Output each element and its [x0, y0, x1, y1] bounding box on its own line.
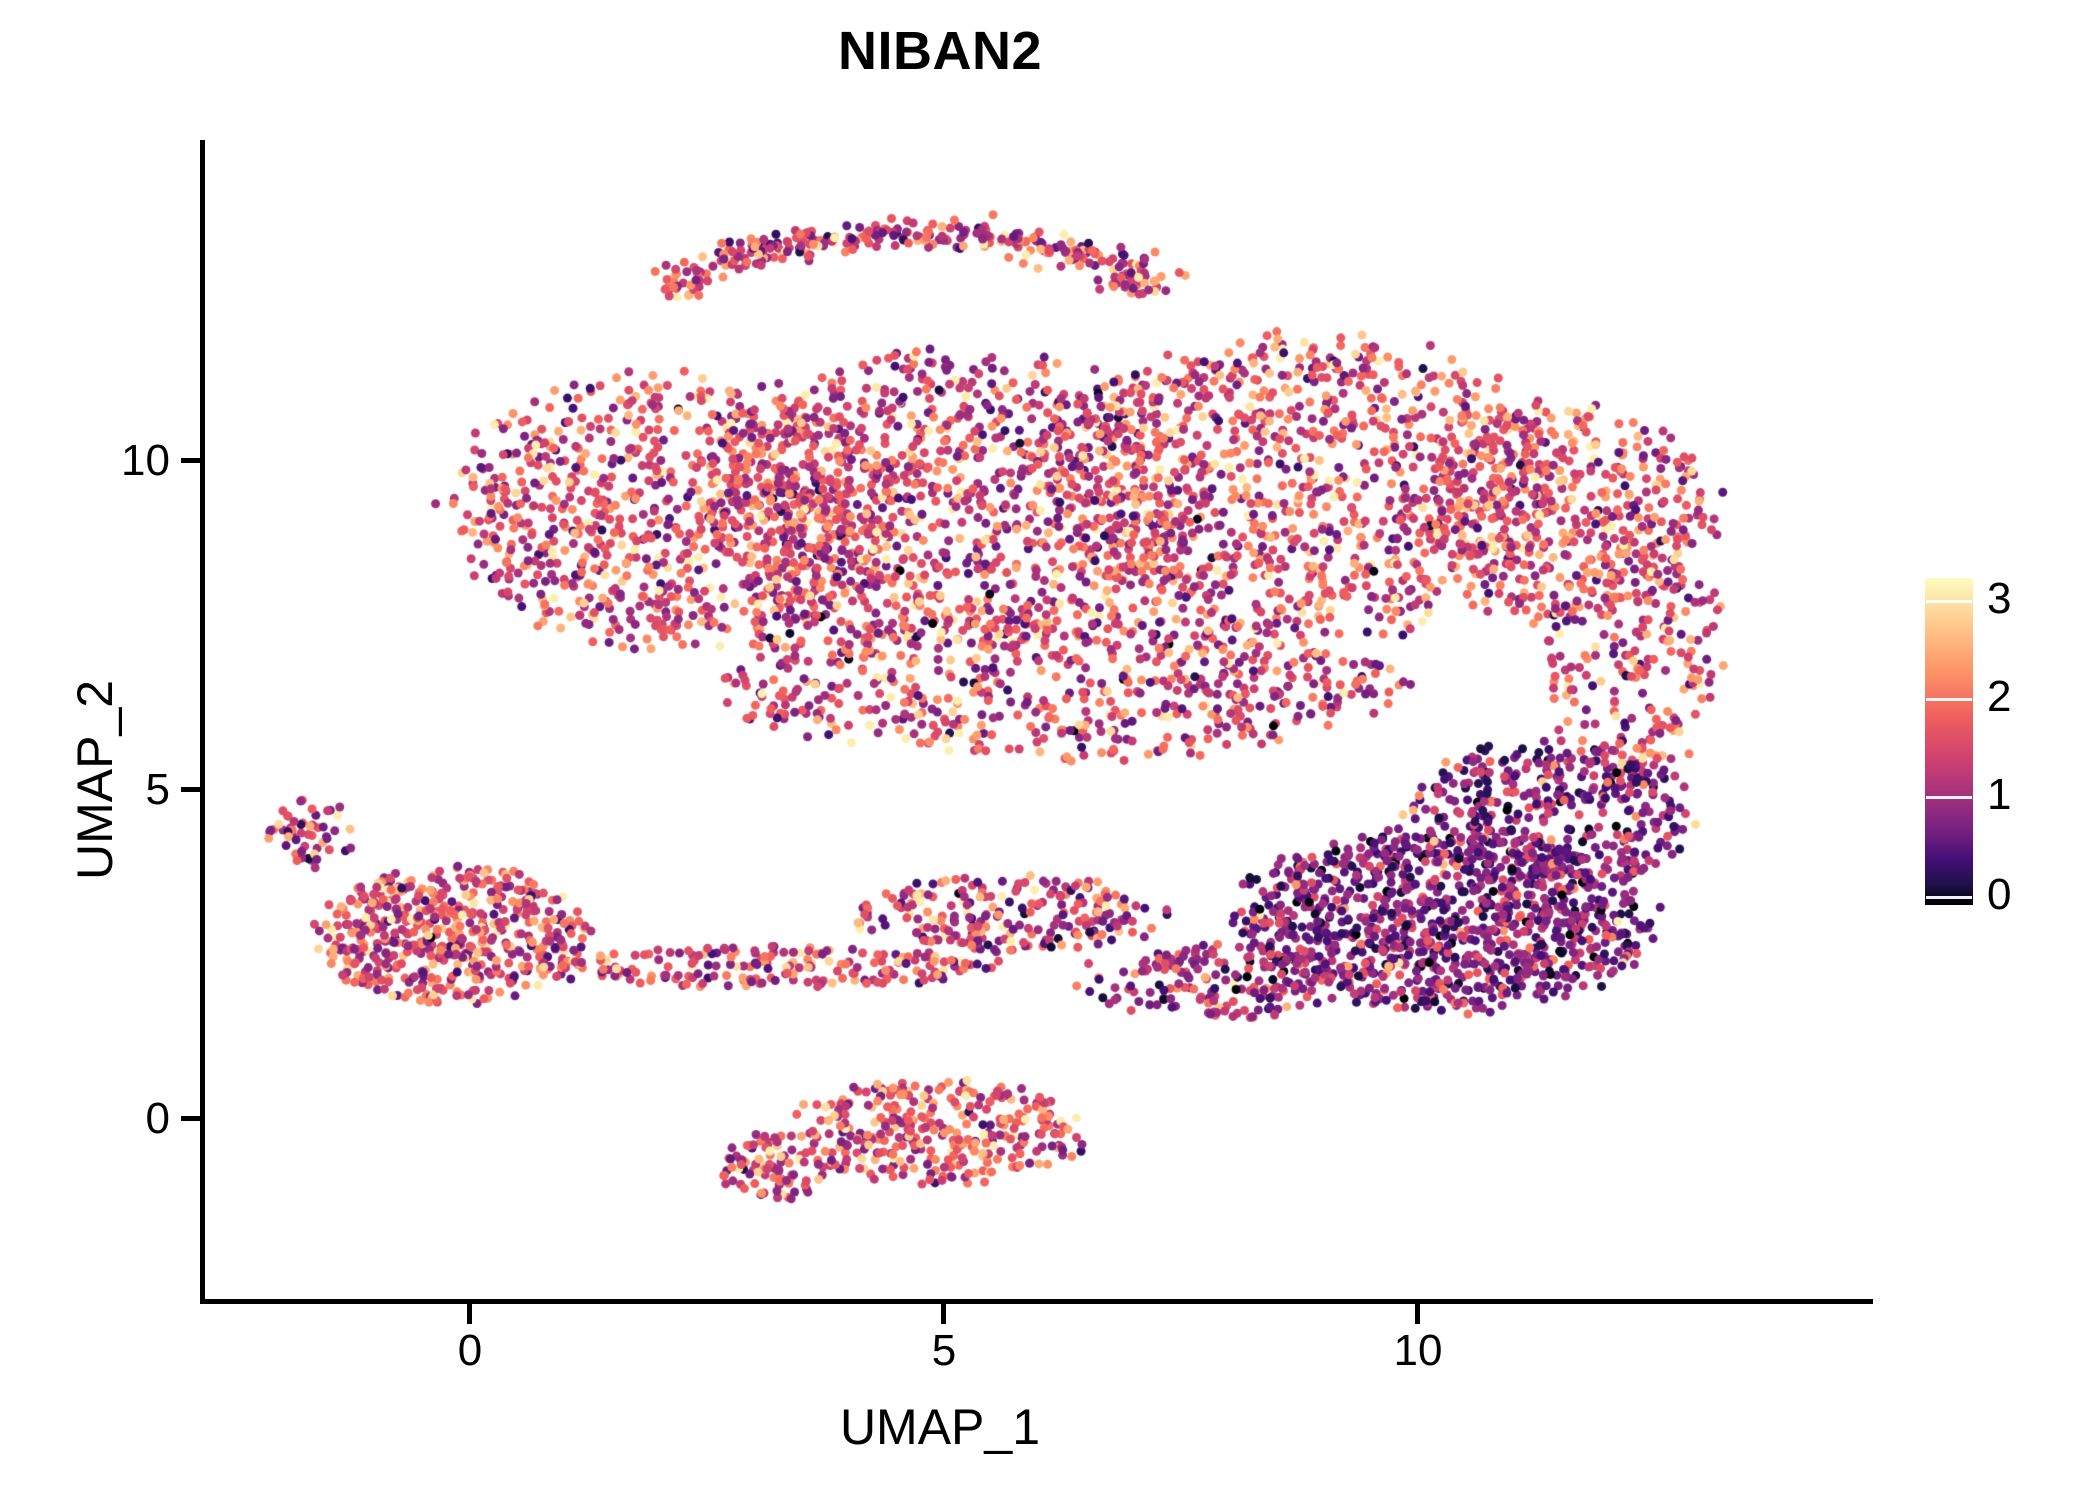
legend-label-0: 0 — [1987, 873, 2011, 917]
legend-tick-3 — [1926, 600, 1972, 603]
y-tick-label-0: 0 — [80, 1094, 170, 1144]
plot-figure: NIBAN2 10 5 0 0 5 10 UMAP_2 UMAP_1 3 2 1… — [0, 0, 2100, 1500]
color-legend-gradient-bar — [1925, 578, 1973, 905]
legend-tick-2 — [1926, 698, 1972, 701]
y-tick-mark-0 — [181, 1116, 201, 1121]
y-tick-label-10: 10 — [80, 436, 170, 486]
x-tick-mark-0 — [467, 1304, 472, 1324]
scatter-points-canvas[interactable] — [205, 140, 1873, 1302]
x-tick-label-10: 10 — [1348, 1326, 1488, 1376]
legend-label-1: 1 — [1987, 773, 2011, 817]
scatter-plot-panel[interactable] — [205, 140, 1873, 1302]
x-axis-line — [200, 1299, 1873, 1304]
x-tick-mark-10 — [1415, 1304, 1420, 1324]
x-tick-label-5: 5 — [874, 1326, 1014, 1376]
y-tick-mark-10 — [181, 458, 201, 463]
color-legend[interactable]: 3 2 1 0 — [1925, 578, 2075, 908]
legend-tick-1 — [1926, 796, 1972, 799]
y-tick-mark-5 — [181, 787, 201, 792]
y-axis-line — [200, 140, 205, 1304]
x-tick-mark-5 — [941, 1304, 946, 1324]
legend-label-2: 2 — [1987, 675, 2011, 719]
y-axis-title: UMAP_2 — [66, 680, 124, 880]
x-tick-label-0: 0 — [400, 1326, 540, 1376]
x-axis-title: UMAP_1 — [0, 1398, 1880, 1456]
legend-tick-0 — [1926, 896, 1972, 899]
legend-label-3: 3 — [1987, 577, 2011, 621]
page-title: NIBAN2 — [0, 22, 1880, 81]
